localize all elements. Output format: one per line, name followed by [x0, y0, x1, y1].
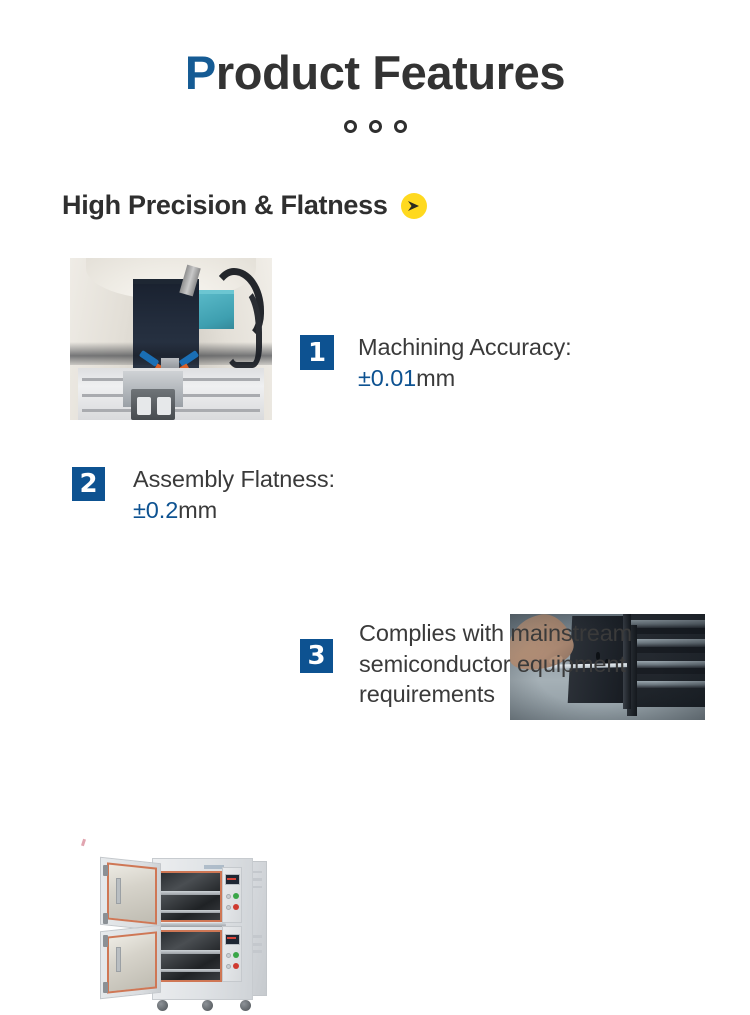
- feature-3-line3: requirements: [359, 679, 632, 710]
- feature-1-value: ±0.01: [358, 365, 416, 391]
- page-title-accent-letter: P: [185, 46, 216, 99]
- circle-outline-icon: [369, 120, 382, 133]
- feature-3-line2: semiconductor equipment: [359, 649, 632, 680]
- cnc-machine-interior-photo: [70, 258, 272, 420]
- feature-2-value: ±0.2: [133, 497, 178, 523]
- feature-3-line1: Complies with mainstream: [359, 618, 632, 649]
- page-title: Product Features: [0, 48, 750, 97]
- play-arrow-icon: [401, 193, 427, 219]
- circle-outline-icon: [394, 120, 407, 133]
- feature-text-2: Assembly Flatness: ±0.2mm: [133, 464, 335, 525]
- feature-row-1: 1 Machining Accuracy: ±0.01mm: [300, 332, 572, 393]
- feature-number-badge: 2: [72, 467, 105, 501]
- section-heading-label: High Precision & Flatness: [62, 190, 388, 221]
- feature-number-badge: 1: [300, 335, 334, 370]
- feature-2-unit: mm: [178, 497, 217, 523]
- feature-row-2: 2 Assembly Flatness: ±0.2mm: [72, 464, 335, 525]
- feature-text-3: Complies with mainstream semiconductor e…: [359, 618, 632, 710]
- feature-number-badge: 3: [300, 639, 333, 673]
- feature-row-3: 3 Complies with mainstream semiconductor…: [300, 618, 632, 710]
- feature-1-line1: Machining Accuracy:: [358, 332, 572, 363]
- section-heading: High Precision & Flatness: [62, 190, 427, 221]
- circle-outline-icon: [344, 120, 357, 133]
- semiconductor-test-chamber-photo: [62, 830, 287, 1015]
- feature-2-line1: Assembly Flatness:: [133, 464, 335, 495]
- page-title-rest: roduct Features: [216, 46, 565, 99]
- feature-text-1: Machining Accuracy: ±0.01mm: [358, 332, 572, 393]
- feature-1-unit: mm: [416, 365, 455, 391]
- title-decoration-dots: [0, 120, 750, 133]
